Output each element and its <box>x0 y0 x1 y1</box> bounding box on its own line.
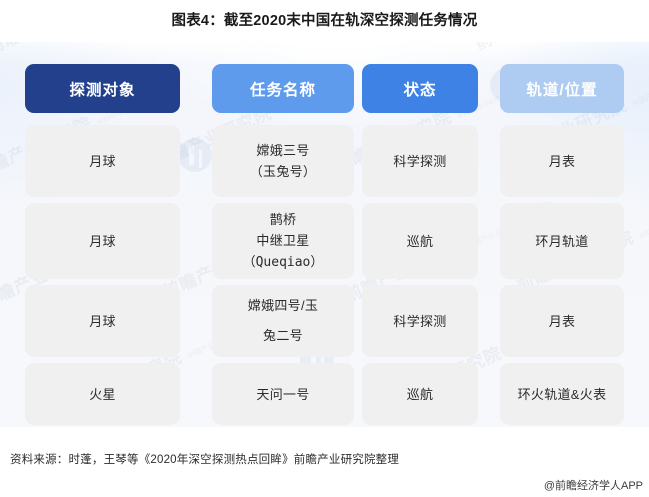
cell-orbit: 月表 <box>543 151 582 172</box>
table-panel: 前瞻产业研究院 中国产业咨询领导者 前瞻产业研究院 400-639-9936 前… <box>0 42 649 427</box>
cell-status: 巡航 <box>401 231 440 252</box>
source-note: 资料来源：时蓬，王琴等《2020年深空探测热点回眸》前瞻产业研究院整理 <box>10 451 399 467</box>
cell-orbit: 环火轨道&火表 <box>512 384 613 405</box>
table-row: 月球 <box>25 125 180 197</box>
table-row: 巡航 <box>362 203 478 279</box>
table-header-cell-status: 状态 <box>362 64 478 113</box>
table-header-cell-orbit: 轨道/位置 <box>500 64 624 113</box>
table-row: 环火轨道&火表 <box>500 363 624 425</box>
table-header-cell-mission: 任务名称 <box>212 64 354 113</box>
table-row: 嫦娥四号/玉 兔二号 <box>212 285 354 357</box>
cell-status: 科学探测 <box>387 151 452 172</box>
table-row: 科学探测 <box>362 285 478 357</box>
table-header-label: 任务名称 <box>250 78 316 100</box>
cell-mission: 嫦娥四号/玉 兔二号 <box>242 291 324 351</box>
table-row: 月表 <box>500 125 624 197</box>
table-row: 月球 <box>25 285 180 357</box>
cell-status: 科学探测 <box>387 311 452 332</box>
table-header-cell-target: 探测对象 <box>25 64 180 113</box>
cell-target: 月球 <box>83 151 122 172</box>
table-header-label: 探测对象 <box>69 78 135 100</box>
cell-mission: 鹊桥 中继卫星 （Queqiao） <box>237 209 330 273</box>
cell-mission: 天问一号 <box>250 384 315 405</box>
cell-orbit: 月表 <box>543 311 582 332</box>
cell-mission: 嫦娥三号 （玉兔号） <box>244 140 323 182</box>
table-header-label: 状态 <box>403 78 436 100</box>
table-row: 天问一号 <box>212 363 354 425</box>
table-row: 月表 <box>500 285 624 357</box>
app-credit: @前瞻经济学人APP <box>544 477 643 493</box>
cell-orbit: 环月轨道 <box>529 231 594 252</box>
cell-target: 火星 <box>83 384 122 405</box>
cell-target: 月球 <box>83 231 122 252</box>
cell-status: 巡航 <box>401 384 440 405</box>
data-table: 探测对象 任务名称 状态 轨道/位置 月球 嫦娥三号 （玉兔号） 科学探测 月表 <box>0 42 649 427</box>
table-row: 科学探测 <box>362 125 478 197</box>
page-title: 图表4：截至2020末中国在轨深空探测任务情况 <box>0 9 649 30</box>
table-row: 火星 <box>25 363 180 425</box>
table-row: 月球 <box>25 203 180 279</box>
table-row: 巡航 <box>362 363 478 425</box>
table-row: 鹊桥 中继卫星 （Queqiao） <box>212 203 354 279</box>
table-header-label: 轨道/位置 <box>526 78 597 100</box>
table-row: 环月轨道 <box>500 203 624 279</box>
table-row: 嫦娥三号 （玉兔号） <box>212 125 354 197</box>
cell-target: 月球 <box>83 311 122 332</box>
